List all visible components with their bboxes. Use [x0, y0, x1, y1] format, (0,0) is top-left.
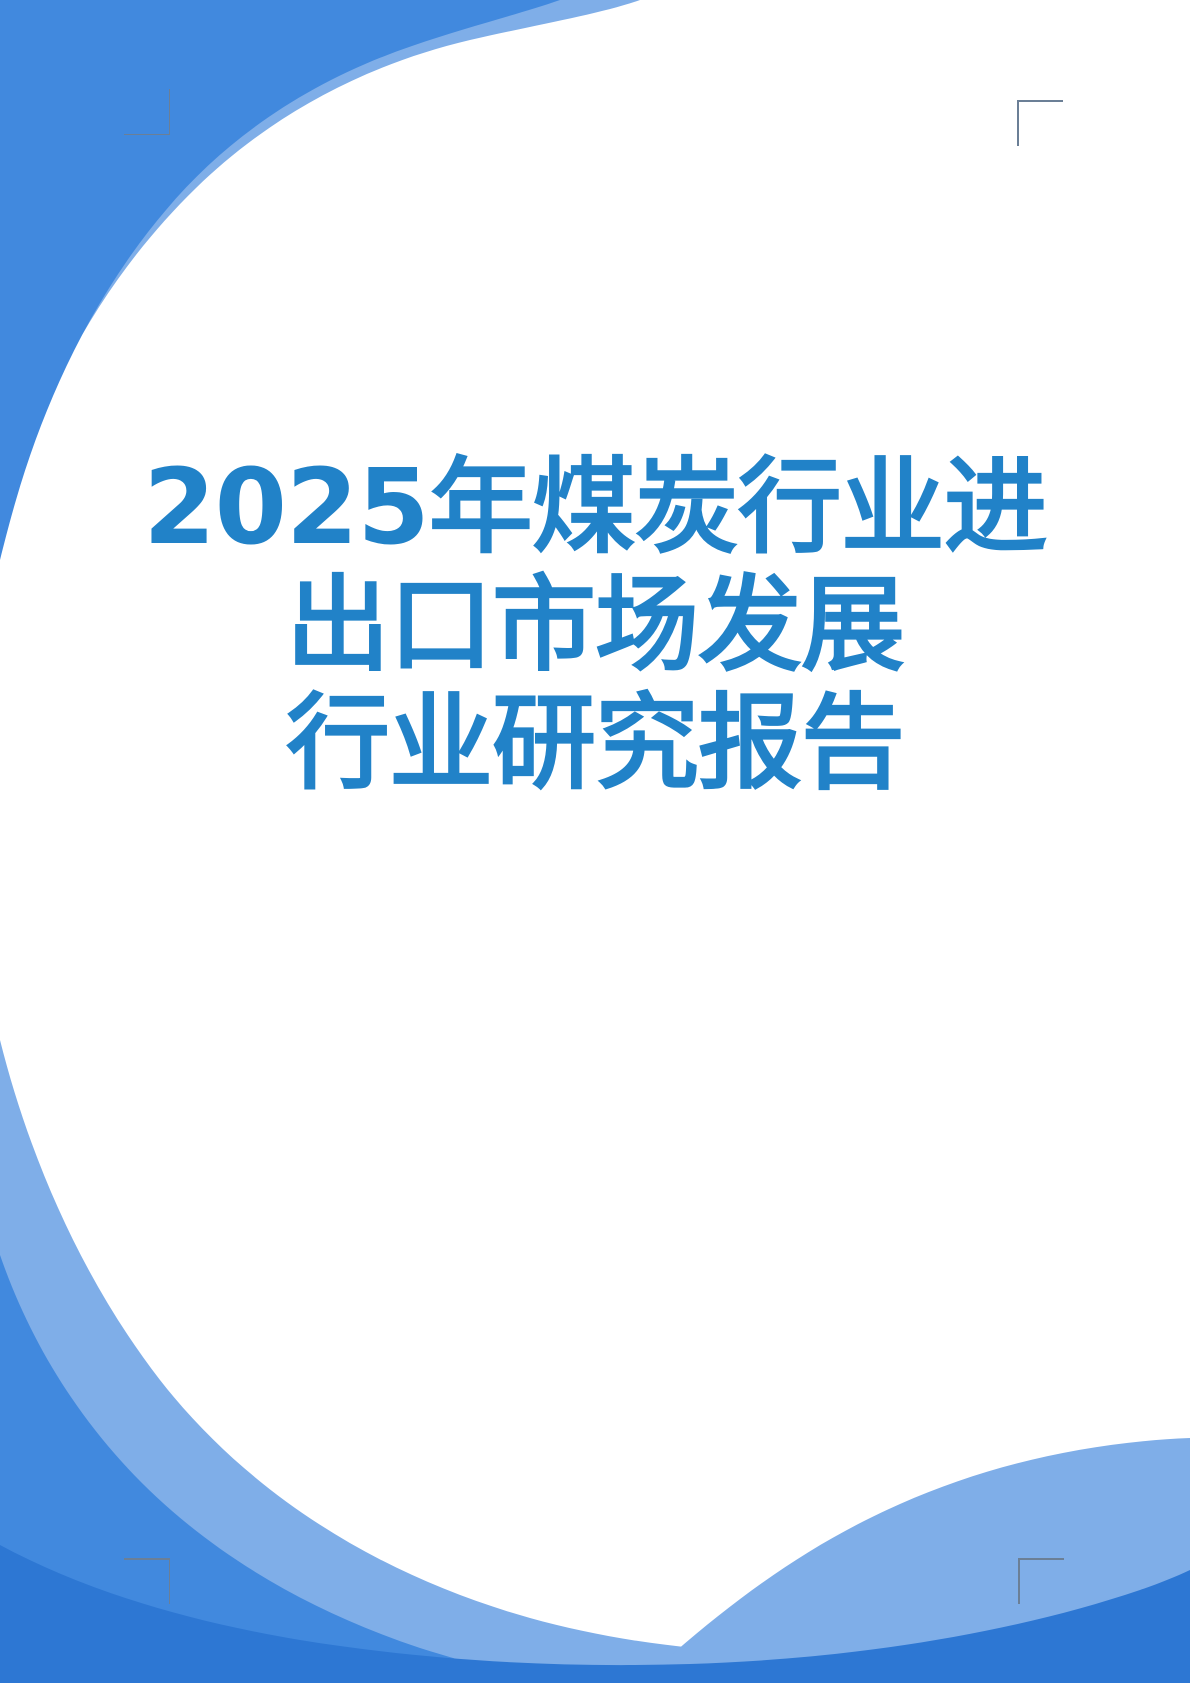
crop-mark-horizontal-line: [124, 134, 170, 136]
crop-mark-vertical-line: [1018, 1558, 1020, 1604]
crop-mark-vertical-line: [169, 1558, 171, 1604]
crop-mark-horizontal-line: [1017, 100, 1063, 102]
cover-title-line-2: 出口市场发展: [0, 566, 1190, 684]
crop-mark-vertical-line: [169, 89, 171, 135]
crop-mark-bottom-left: [124, 1558, 170, 1604]
crop-mark-bottom-right: [1018, 1558, 1064, 1604]
cover-title-line-1: 2025年煤炭行业进: [0, 448, 1190, 566]
crop-mark-top-right: [1017, 100, 1063, 146]
crop-mark-horizontal-line: [124, 1558, 170, 1560]
cover-title-line-3: 行业研究报告: [0, 684, 1190, 802]
decorative-background: [0, 0, 1190, 1683]
cover-title: 2025年煤炭行业进 出口市场发展 行业研究报告: [0, 448, 1190, 802]
crop-mark-top-left: [124, 89, 170, 135]
cover-page: 2025年煤炭行业进 出口市场发展 行业研究报告: [0, 0, 1190, 1683]
crop-mark-vertical-line: [1017, 100, 1019, 146]
crop-mark-horizontal-line: [1018, 1558, 1064, 1560]
